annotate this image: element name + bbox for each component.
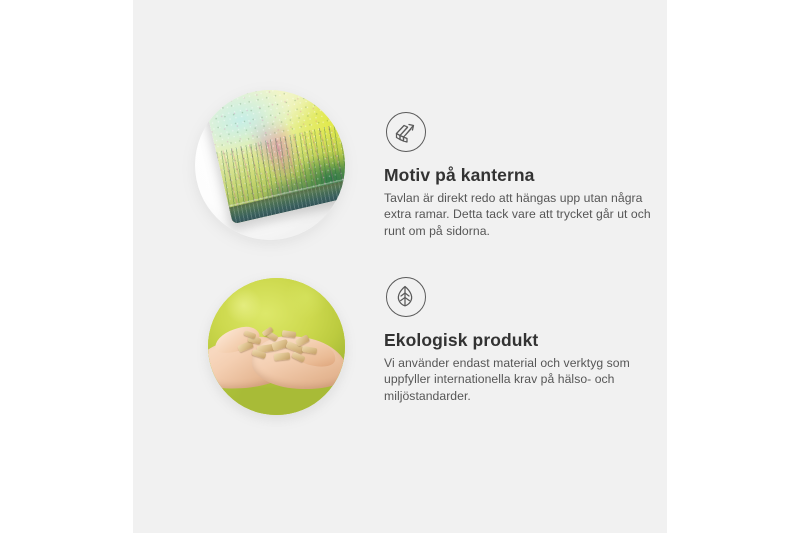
canvas-wrapped-edge-icon — [386, 112, 426, 152]
content-panel: Motiv på kanterna Tavlan är direkt redo … — [133, 0, 667, 533]
hands-holding-wood-chips-photo — [208, 278, 345, 415]
feature-title: Motiv på kanterna — [384, 164, 652, 186]
wood-chip-pile — [236, 327, 322, 367]
feature-description: Vi använder endast material och verktyg … — [384, 355, 652, 404]
feature-title: Ekologisk produkt — [384, 329, 652, 351]
product-feature-banner: Motiv på kanterna Tavlan är direkt redo … — [0, 0, 800, 533]
canvas-print-corner-photo — [195, 90, 345, 240]
feature-text-column: Motiv på kanterna Tavlan är direkt redo … — [384, 112, 652, 239]
leaf-icon — [386, 277, 426, 317]
feature-text-column: Ekologisk produkt Vi använder endast mat… — [384, 277, 652, 404]
feature-description: Tavlan är direkt redo att hängas upp uta… — [384, 190, 652, 239]
